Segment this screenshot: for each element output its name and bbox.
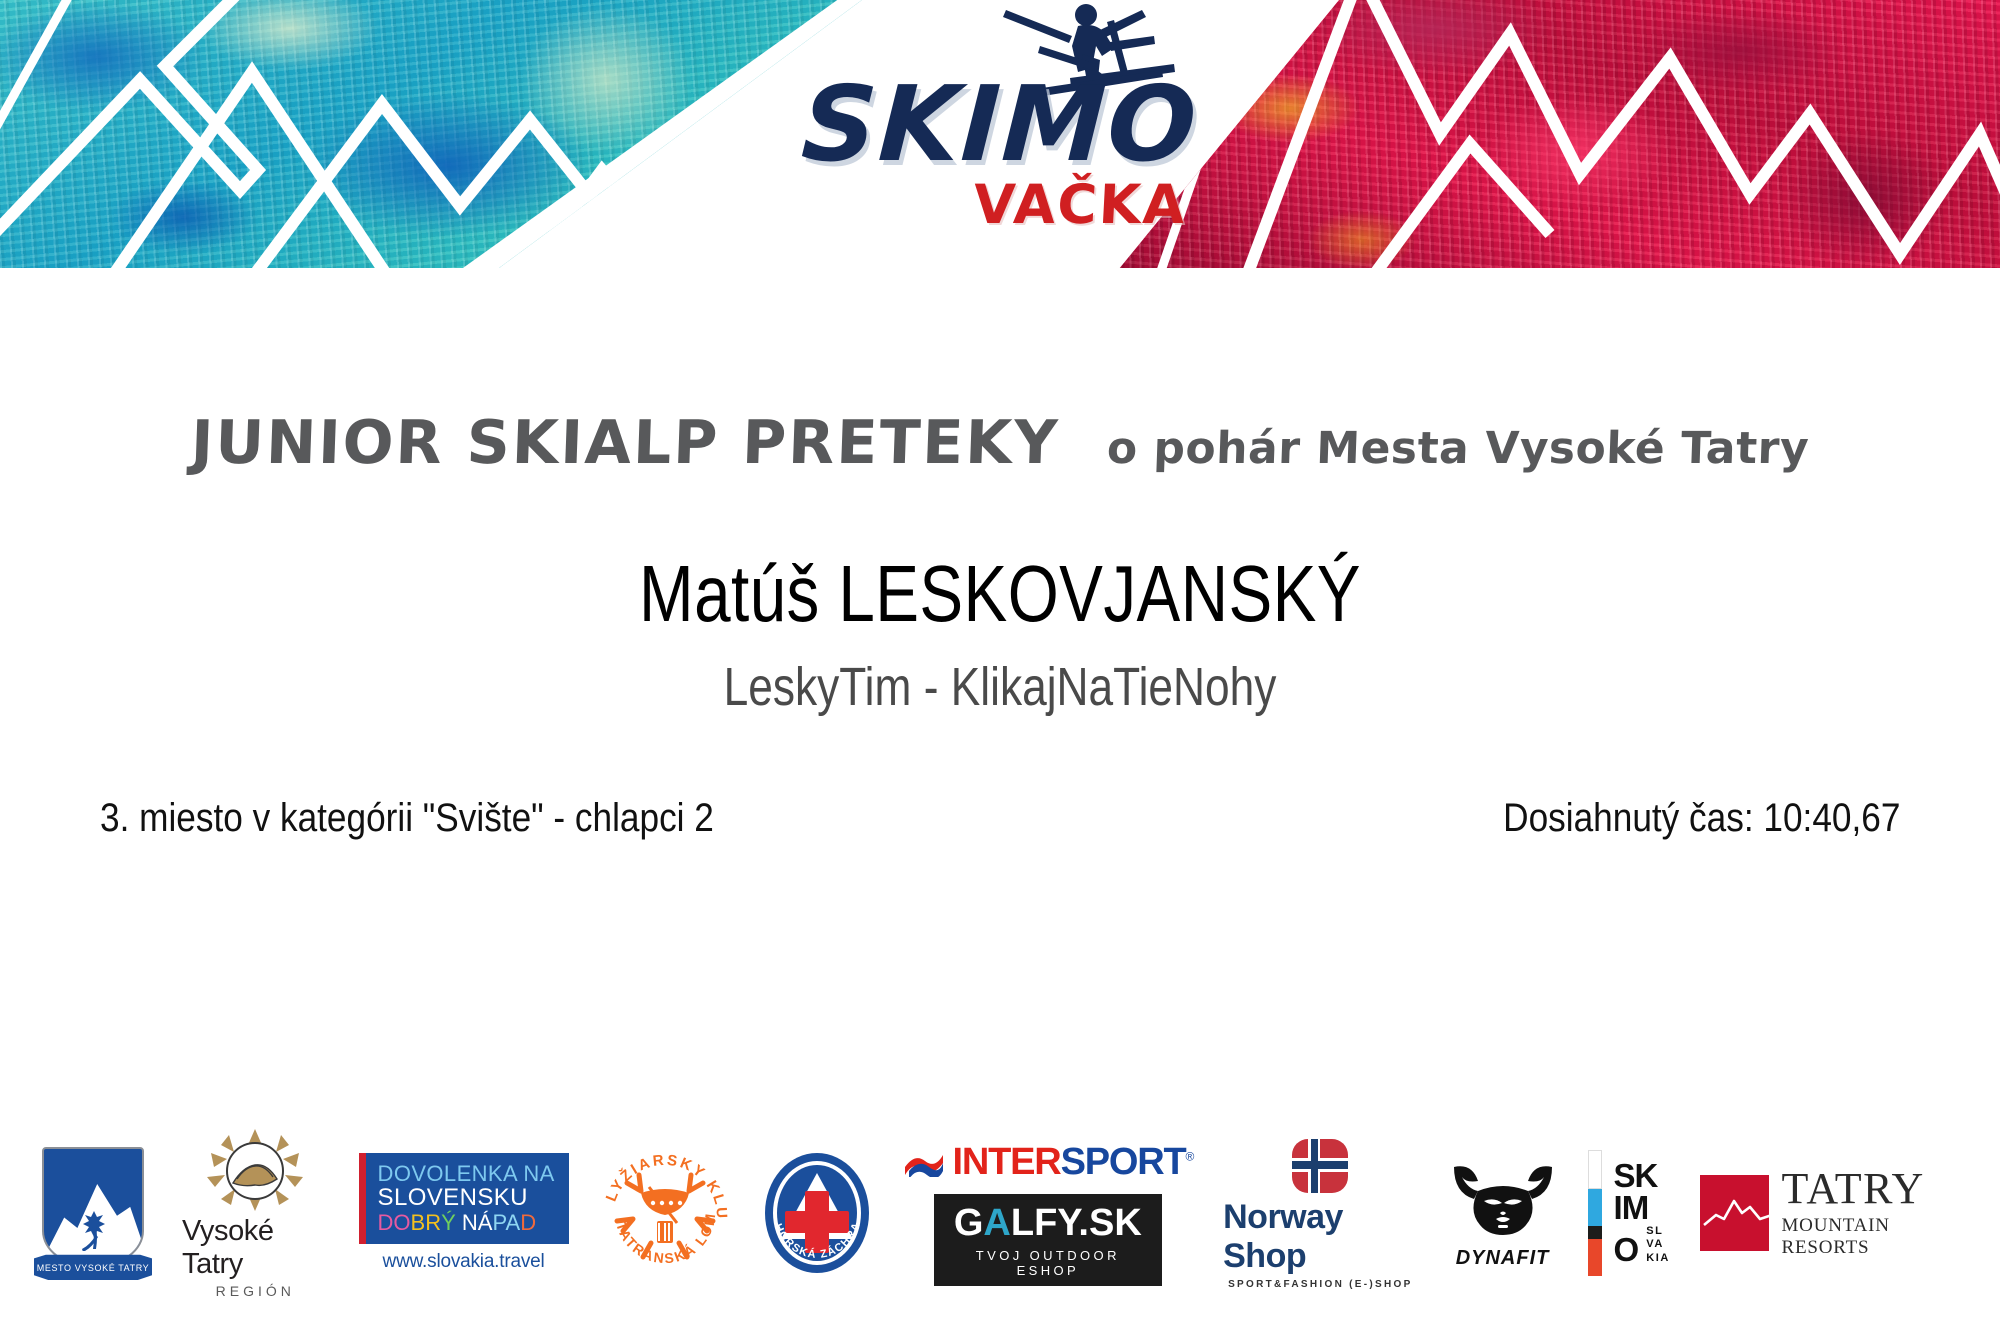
galfy-tagline: TVOJ OUTDOOR ESHOP xyxy=(950,1248,1146,1278)
norwegian-flag-icon xyxy=(1290,1137,1350,1195)
certificate-body: JUNIOR SKIALP PRETEKY o pohár Mesta Vyso… xyxy=(0,268,2000,1334)
sponsor-skimo-slovakia[interactable]: SK IM O SL VA KIA xyxy=(1588,1123,1670,1303)
skimo-country-line2: VA xyxy=(1646,1238,1670,1252)
chamois-figure-icon xyxy=(80,1209,108,1251)
result-row: 3. miesto v kategórii "Svište" - chlapci… xyxy=(100,796,1900,841)
result-time: Dosiahnutý čas: 10:40,67 xyxy=(1503,796,1900,841)
vacka-wordmark: VAČKA xyxy=(909,178,1252,232)
sponsor-vysoke-tatry-region[interactable]: Vysoké Tatry REGIÓN xyxy=(182,1123,329,1303)
intersport-name-blue: SPORT xyxy=(1061,1141,1186,1183)
sponsor-intersport-galfy-group[interactable]: INTERSPORT® GALFY.SK TVOJ OUTDOOR ESHOP xyxy=(903,1123,1194,1303)
city-coat-of-arms-icon: MESTO VYSOKÉ TATRY xyxy=(34,1143,152,1283)
dynafit-name: DYNAFIT xyxy=(1456,1247,1550,1270)
sponsor-galfy-sk[interactable]: GALFY.SK TVOJ OUTDOOR ESHOP xyxy=(934,1194,1162,1286)
skimo-country-line1: SL xyxy=(1646,1225,1670,1239)
tmr-logo: TATRY MOUNTAIN RESORTS xyxy=(1700,1167,1966,1259)
athlete-name: Matúš LESKOVJANSKÝ xyxy=(180,548,1820,640)
sponsor-tatry-mountain-resorts[interactable]: TATRY MOUNTAIN RESORTS xyxy=(1700,1123,1966,1303)
galfy-name-accent: A xyxy=(983,1202,1010,1244)
mountain-rescue-cross-icon: HORSKÁ ZÁCHRANNÁ SLUŽBA xyxy=(761,1147,873,1279)
skimo-wordmark: SKIMO xyxy=(747,72,1252,176)
skimo-slovakia-bar-icon xyxy=(1588,1150,1602,1276)
sponsor-lyziarsky-klub-tatranska-lomnica[interactable]: LYŽIARSKY KLUB TATRANSKÁ LOMNICA xyxy=(599,1123,731,1303)
dovolenka-line1: DOVOLENKA NA xyxy=(378,1162,559,1185)
crest-ribbon-text: MESTO VYSOKÉ TATRY xyxy=(34,1253,152,1283)
intersport-registered: ® xyxy=(1185,1149,1193,1163)
galfy-name-post: LFY.SK xyxy=(1011,1202,1142,1244)
skimo-sk-line1: SK xyxy=(1614,1160,1670,1192)
athlete-team: LeskyTim - KlikajNaTieNohy xyxy=(180,656,1820,718)
snow-leopard-icon xyxy=(1448,1157,1558,1243)
headline-main: JUNIOR SKIALP PRETEKY xyxy=(189,408,1060,478)
event-headline: JUNIOR SKIALP PRETEKY o pohár Mesta Vyso… xyxy=(0,408,2000,478)
headline-sub: o pohár Mesta Vysoké Tatry xyxy=(1106,423,1810,474)
norway-shop-name: Norway Shop xyxy=(1223,1198,1417,1276)
sponsor-intersport[interactable]: INTERSPORT® xyxy=(903,1141,1194,1184)
intersport-swoosh-icon xyxy=(903,1147,945,1177)
skimo-slovakia-logo: SK IM O SL VA KIA xyxy=(1588,1150,1670,1276)
result-placement: 3. miesto v kategórii "Svište" - chlapci… xyxy=(100,796,714,841)
edelweiss-sun-icon xyxy=(203,1127,307,1213)
slovakia-travel-url[interactable]: www.slovakia.travel xyxy=(383,1251,545,1273)
skimo-slovakia-country: SL VA KIA xyxy=(1646,1225,1670,1266)
dovolenka-line2: SLOVENSKU xyxy=(378,1185,559,1210)
dovolenka-line3: DOBRÝ NÁPAD xyxy=(378,1211,559,1234)
norway-shop-sub: SPORT&FASHION (E-)SHOP xyxy=(1228,1279,1413,1290)
snowflake-skier-icon: LYŽIARSKY KLUB TATRANSKÁ LOMNICA xyxy=(599,1147,731,1279)
vysoke-tatry-name: Vysoké Tatry xyxy=(182,1215,329,1281)
sponsor-norway-shop[interactable]: Norway Shop SPORT&FASHION (E-)SHOP xyxy=(1223,1123,1417,1303)
sponsor-mesto-vysoke-tatry[interactable]: MESTO VYSOKÉ TATRY xyxy=(34,1123,152,1303)
skimo-sk-line2: IM xyxy=(1614,1192,1670,1224)
skimo-slovakia-letters: SK IM O SL VA KIA xyxy=(1614,1150,1670,1276)
tmr-sub: MOUNTAIN RESORTS xyxy=(1781,1215,1966,1259)
sponsor-horska-zachranna-sluzba[interactable]: HORSKÁ ZÁCHRANNÁ SLUŽBA xyxy=(761,1123,873,1303)
intersport-name-red: INTER xyxy=(953,1141,1061,1183)
vysoke-tatry-sub: REGIÓN xyxy=(216,1283,295,1299)
skimo-country-line3: KIA xyxy=(1646,1252,1670,1266)
mountain-ridge-icon xyxy=(1700,1175,1770,1251)
sponsor-dovolenka-na-slovensku[interactable]: DOVOLENKA NA SLOVENSKU DOBRÝ NÁPAD www.s… xyxy=(359,1123,569,1303)
skimo-vacka-logo: SKIMO VAČKA xyxy=(740,0,1270,268)
skimo-sk-line3: O xyxy=(1614,1234,1639,1266)
slovakia-travel-badge: DOVOLENKA NA SLOVENSKU DOBRÝ NÁPAD xyxy=(359,1153,569,1243)
header-banner: SKIMO VAČKA xyxy=(0,0,2000,268)
sponsor-logos-row: MESTO VYSOKÉ TATRY Vysoké Tatry xyxy=(0,1118,2000,1308)
galfy-name: GALFY.SK xyxy=(954,1204,1142,1242)
galfy-name-pre: G xyxy=(954,1202,984,1244)
tmr-name: TATRY xyxy=(1781,1167,1966,1211)
sponsor-dynafit[interactable]: DYNAFIT xyxy=(1448,1123,1558,1303)
